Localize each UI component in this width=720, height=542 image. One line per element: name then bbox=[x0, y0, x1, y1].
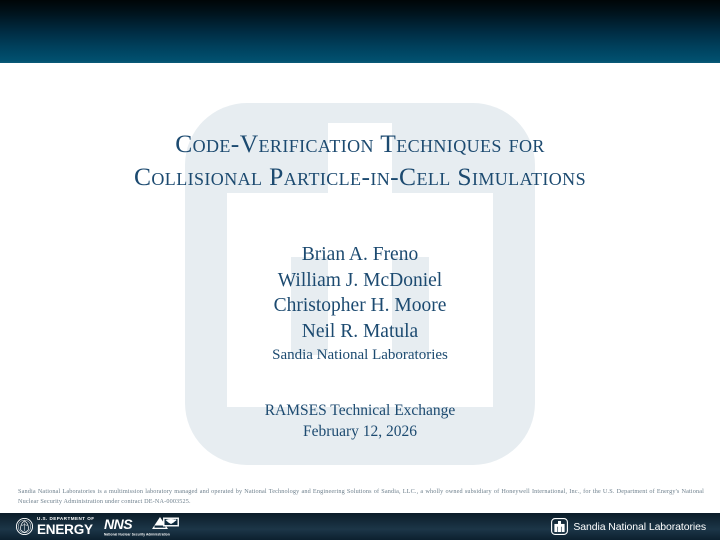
author-name: Neil R. Matula bbox=[30, 319, 690, 345]
author-list: Brian A. Freno William J. McDoniel Chris… bbox=[30, 242, 690, 364]
doe-seal-icon bbox=[16, 518, 33, 535]
title-line-1: Code-Verification Techniques for bbox=[30, 127, 690, 160]
svg-text:NNS: NNS bbox=[104, 516, 133, 532]
doe-wordmark: U.S. DEPARTMENT OF ENERGY bbox=[37, 517, 95, 536]
title-line-2: Collisional Particle-in-Cell Simulations bbox=[30, 160, 690, 193]
doe-department-text: U.S. DEPARTMENT OF bbox=[37, 517, 95, 522]
event-name: RAMSES Technical Exchange bbox=[30, 401, 690, 422]
legal-disclaimer: Sandia National Laboratories is a multim… bbox=[18, 487, 704, 507]
sandia-logo: Sandia National Laboratories bbox=[551, 517, 706, 536]
slide-content: Code-Verification Techniques for Collisi… bbox=[0, 63, 720, 513]
doe-energy-text: ENERGY bbox=[37, 523, 95, 537]
event-info: RAMSES Technical Exchange February 12, 2… bbox=[30, 401, 690, 442]
page-title: Code-Verification Techniques for Collisi… bbox=[30, 127, 690, 193]
author-affiliation: Sandia National Laboratories bbox=[30, 347, 690, 364]
sandia-wordmark-text: Sandia National Laboratories bbox=[573, 521, 706, 533]
nnsa-eagle-icon: NNS National Nuclear Security Administra… bbox=[104, 516, 186, 537]
author-name: Brian A. Freno bbox=[30, 242, 690, 268]
author-name: William J. McDoniel bbox=[30, 268, 690, 294]
event-date: February 12, 2026 bbox=[30, 422, 690, 443]
slide-header-banner bbox=[0, 0, 720, 63]
doe-logo: U.S. DEPARTMENT OF ENERGY bbox=[16, 517, 95, 536]
sandia-thunderbird-icon bbox=[551, 518, 568, 535]
author-name: Christopher H. Moore bbox=[30, 293, 690, 319]
nnsa-logo: NNS National Nuclear Security Administra… bbox=[104, 516, 186, 537]
svg-text:National Nuclear Security Admi: National Nuclear Security Administration bbox=[104, 533, 170, 537]
